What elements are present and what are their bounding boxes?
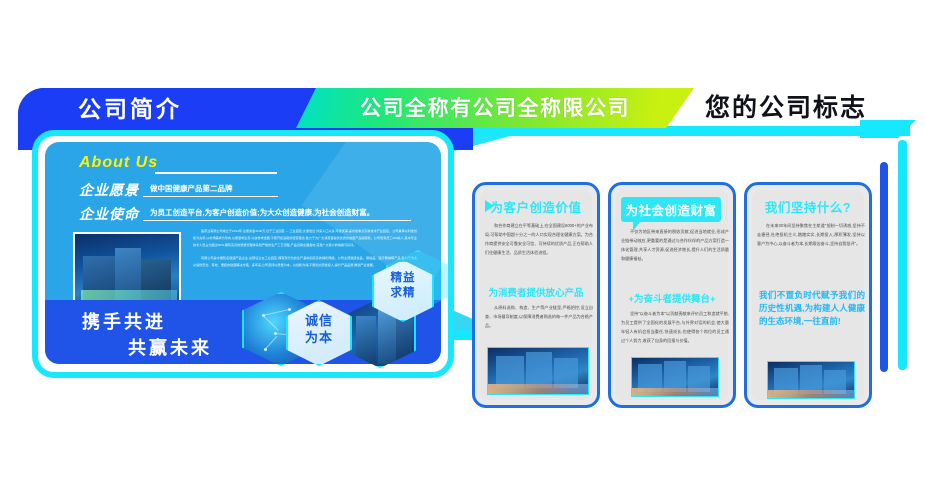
integrity-line-1: 诚信 — [286, 312, 352, 329]
panel-3-big-statement: 我们不置负时代赋予我们的历史性机遇,为构建人人健康的生态环境,一往直前! — [759, 289, 865, 359]
panel-1-photo — [487, 347, 589, 395]
value-panel-customer[interactable]: 为客户创造价值 和合作商建立在平等基础上,在全国建设6000+的产业布局,可帮助… — [472, 182, 600, 408]
slogan-line-2: 共赢未来 — [128, 334, 212, 360]
slogan-line-1: 携手共进 — [82, 308, 166, 334]
mission-label: 企业使命 — [79, 204, 139, 224]
vision-label: 企业愿景 — [79, 180, 139, 200]
hexagon-badge-integrity-label: 诚信 为本 — [286, 312, 352, 346]
value-panel-society[interactable]: 为社会创造财富 不仅为地区带来直接的税收贡献,促进当地就业,形成产业链带动效应,… — [608, 182, 736, 408]
header-title-left: 公司简介 — [78, 93, 278, 125]
panel-2-heading: 为社会创造财富 — [621, 197, 721, 222]
mission-text: 为员工创造平台,为客户创造价值;为大众创造健康,为社会创造财富。 — [150, 207, 374, 218]
panel-3-body: 在未来30年间坚持聚焦在主航道"抵制一切诱惑,坚持不走捷径,杜绝投机主义,踏踏实… — [757, 221, 865, 283]
about-us-title: About Us — [79, 154, 158, 172]
vision-text: 做中国健康产品第二品牌 — [150, 183, 233, 194]
company-description-p1: 医药业有限公司成立于2014年,注册资金3100万,位于工业园区 — 工业园区,… — [193, 228, 417, 250]
panel-1-subheading: 为消费者提供放心产品 — [475, 285, 597, 299]
panel-2-body: 不仅为地区带来直接的税收贡献,促进当地就业,形成产业链带动效应,更重要的是通过与… — [621, 227, 729, 287]
poster-canvas: 公司简介 公司全称有公司全称限公司 您的公司标志 About Us 企业愿景 做… — [0, 0, 925, 500]
panel-3-heading: 我们坚持什么? — [747, 197, 869, 216]
panel-2-subbody: 坚持"以奋斗者为本"以贡献责献来评价员工和造就平航,为员工提供了全国化的发展平台… — [621, 309, 729, 353]
excellence-line-2: 求精 — [372, 286, 434, 301]
about-us-underline — [155, 172, 277, 174]
header-title-right: 您的公司标志 — [705, 90, 915, 126]
excellence-line-1: 精益 — [372, 271, 434, 286]
vision-underline — [143, 196, 278, 197]
header-title-center: 公司全称有公司全称限公司 — [310, 93, 680, 125]
panel-1-body: 和合作商建立在平等基础上,在全国建设6000+的产业布局,可帮助中国超十分之一的… — [485, 221, 593, 279]
company-description-p2: 有限公司是中国知名健康产品企业,总部设立在工业园区,拥有现代化的生产基地和完善的… — [193, 255, 417, 269]
value-panel-principles[interactable]: 我们坚持什么? 在未来30年间坚持聚焦在主航道"抵制一切诱惑,坚持不走捷径,杜绝… — [744, 182, 872, 408]
right-cyan-rail — [898, 140, 907, 370]
panel-2-subheading: +为奋斗者提供舞台+ — [611, 291, 733, 305]
mission-underline — [143, 220, 411, 221]
integrity-line-2: 为本 — [286, 329, 352, 346]
panel-1-heading: 为客户创造价值 — [475, 197, 597, 216]
panel-1-subbody: 从原料选购、构造、生产等产业链里,严格把控,设立自查、市场督导制度,以保障消费者… — [485, 303, 593, 345]
panel-2-photo — [631, 357, 719, 397]
panel-3-photo — [767, 361, 855, 399]
right-blue-rail — [880, 162, 888, 372]
hexagon-badge-excellence-label: 精益 求精 — [372, 271, 434, 301]
